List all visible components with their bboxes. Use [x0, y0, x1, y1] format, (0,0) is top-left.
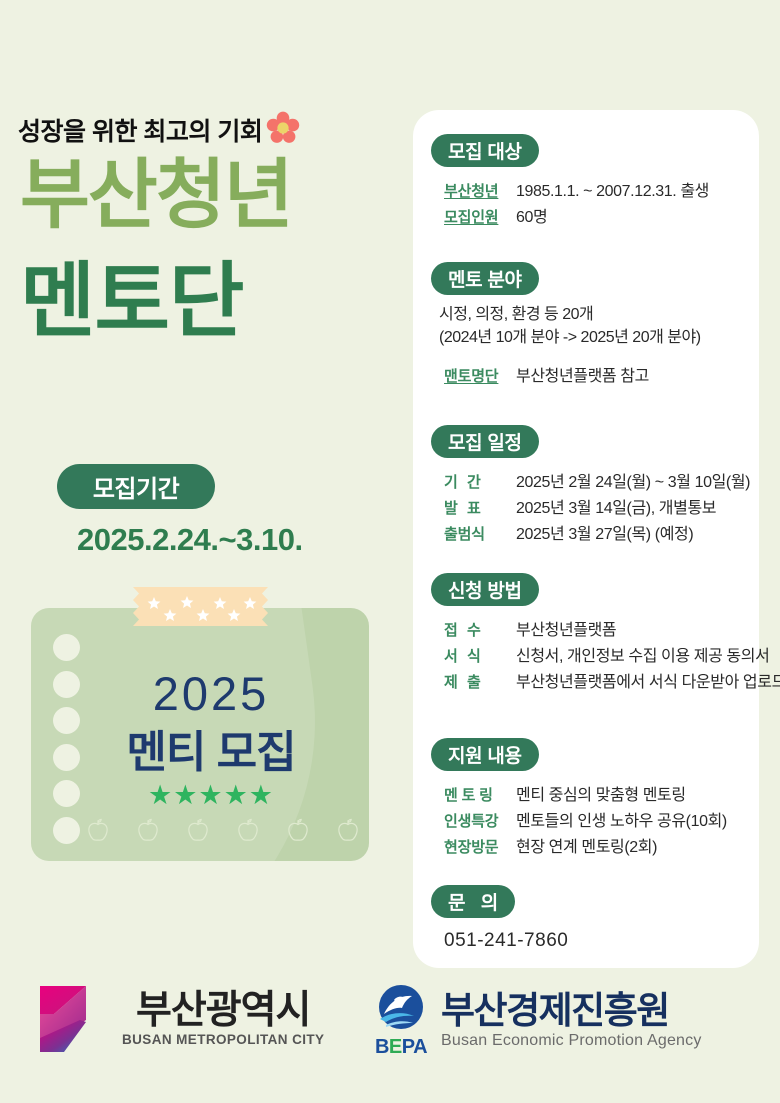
apple-icon: [237, 818, 259, 842]
row-value: 60명: [516, 203, 547, 227]
bepa-mark: BEPA: [372, 983, 430, 1059]
bepa-logo: BEPA 부산경제진흥원 Busan Economic Promotion Ag…: [372, 983, 702, 1059]
contact-phone: 051-241-7860: [431, 930, 751, 952]
busan-city-logo-text: 부산광역시 BUSAN METROPOLITAN CITY: [122, 991, 324, 1048]
info-row: 모집인원 60명: [444, 203, 751, 227]
row-value: 멘티 중심의 맞춤형 멘토링: [516, 781, 686, 805]
bepa-name-kr: 부산경제진흥원: [441, 992, 702, 1031]
row-value: 2025년 3월 27일(목) (예정): [516, 520, 693, 544]
info-row: 기 간 2025년 2월 24일(월) ~ 3월 10일(월): [444, 468, 751, 492]
row-label: 모집인원: [444, 206, 516, 227]
row-value: 현장 연계 멘토링(2회): [516, 833, 657, 857]
row-label: 제 출: [444, 671, 516, 692]
section-pill-apply-method: 신청 방법: [431, 573, 539, 606]
section-pill-support: 지원 내용: [431, 738, 539, 771]
info-row: 서 식 신청서, 개인정보 수집 이용 제공 동의서: [444, 642, 751, 666]
info-row: 인생특강 멘토들의 인생 노하우 공유(10회): [444, 807, 751, 831]
section-apply-method: 신청 방법 접 수 부산청년플랫폼 서 식 신청서, 개인정보 수집 이용 제공…: [431, 573, 751, 694]
apple-icon: [137, 818, 159, 842]
bepa-logo-text: 부산경제진흥원 Busan Economic Promotion Agency: [441, 992, 702, 1051]
punch-hole: [53, 634, 80, 661]
row-label: 맨토명단: [444, 365, 516, 386]
rows-recruit-target: 부산청년 1985.1.1. ~ 2007.12.31. 출생 모집인원 60명: [431, 177, 751, 227]
busan-city-name-kr: 부산광역시: [136, 991, 310, 1032]
section-pill-mentor-field: 멘토 분야: [431, 262, 539, 295]
apple-row: [87, 818, 359, 842]
row-label: 출범식: [444, 523, 516, 544]
info-row: 멘 토 링 멘티 중심의 맞춤형 멘토링: [444, 781, 751, 805]
info-row: 제 출 부산청년플랫폼에서 서식 다운받아 업로드: [444, 668, 751, 692]
section-mentor-field: 멘토 분야 시정, 의정, 환경 등 20개 (2024년 10개 분야 -> …: [431, 262, 751, 388]
title-line-2: 멘토단: [20, 263, 243, 342]
section-pill-contact: 문 의: [431, 885, 515, 918]
row-value: 신청서, 개인정보 수집 이용 제공 동의서: [516, 642, 769, 666]
info-panel: 모집 대상 부산청년 1985.1.1. ~ 2007.12.31. 출생 모집…: [413, 110, 759, 968]
busan-city-logo: 부산광역시 BUSAN METROPOLITAN CITY: [34, 980, 324, 1058]
star-rating: ★★★★★: [31, 780, 369, 811]
bepa-wordmark: BEPA: [375, 1036, 427, 1059]
section-pill-recruit-target: 모집 대상: [431, 134, 539, 167]
left-column: 성장을 위한 최고의 기회 부산청년 멘토단 모집기간 2025.2.24.~3…: [0, 0, 412, 1103]
tagline-row: 성장을 위한 최고의 기회: [18, 112, 300, 148]
row-label: 발 표: [444, 497, 516, 518]
title-line-1: 부산청년: [20, 160, 292, 233]
busan-city-logo-icon: [34, 980, 112, 1058]
row-value: 부산청년플랫폼 참고: [516, 362, 649, 386]
apple-icon: [337, 818, 359, 842]
info-row: 현장방문 현장 연계 멘토링(2회): [444, 833, 751, 857]
punch-hole: [53, 817, 80, 844]
row-value: 멘토들의 인생 노하우 공유(10회): [516, 807, 727, 831]
rows-mentor-field: 맨토명단 부산청년플랫폼 참고: [431, 362, 751, 386]
row-value: 부산청년플랫폼: [516, 616, 616, 640]
washi-tape-icon: [128, 587, 273, 626]
row-value: 2025년 3월 14일(금), 개별통보: [516, 494, 716, 518]
row-label: 현장방문: [444, 836, 516, 857]
mentor-field-text-1: 시정, 의정, 환경 등 20개: [431, 304, 751, 326]
row-label: 부산청년: [444, 180, 516, 201]
bepa-logo-icon: [372, 983, 430, 1035]
rows-schedule: 기 간 2025년 2월 24일(월) ~ 3월 10일(월) 발 표 2025…: [431, 468, 751, 544]
rows-apply-method: 접 수 부산청년플랫폼 서 식 신청서, 개인정보 수집 이용 제공 동의서 제…: [431, 616, 751, 692]
info-row: 부산청년 1985.1.1. ~ 2007.12.31. 출생: [444, 177, 751, 201]
bepa-name-en: Busan Economic Promotion Agency: [441, 1032, 702, 1050]
mentor-field-text-2: (2024년 10개 분야 -> 2025년 20개 분야): [431, 327, 751, 349]
flower-icon: [266, 111, 300, 145]
note-card: 2025 멘티 모집 ★★★★★: [31, 608, 369, 861]
row-label: 기 간: [444, 471, 516, 492]
row-value: 부산청년플랫폼에서 서식 다운받아 업로드: [516, 668, 780, 692]
info-row: 출범식 2025년 3월 27일(목) (예정): [444, 520, 751, 544]
footer-logos: 부산광역시 BUSAN METROPOLITAN CITY BEPA 부산경제진…: [0, 975, 780, 1090]
busan-city-name-en: BUSAN METROPOLITAN CITY: [122, 1032, 324, 1047]
tagline: 성장을 위한 최고의 기회: [18, 112, 262, 148]
section-recruit-target: 모집 대상 부산청년 1985.1.1. ~ 2007.12.31. 출생 모집…: [431, 134, 751, 229]
info-row: 맨토명단 부산청년플랫폼 참고: [444, 362, 751, 386]
recruit-period-dates: 2025.2.24.~3.10.: [77, 522, 303, 558]
row-label: 멘 토 링: [444, 784, 516, 805]
row-value: 1985.1.1. ~ 2007.12.31. 출생: [516, 177, 709, 201]
rows-support: 멘 토 링 멘티 중심의 맞춤형 멘토링 인생특강 멘토들의 인생 노하우 공유…: [431, 781, 751, 857]
row-label: 서 식: [444, 645, 516, 666]
note-card-headline: 멘티 모집: [31, 716, 369, 780]
row-value: 2025년 2월 24일(월) ~ 3월 10일(월): [516, 468, 750, 492]
row-label: 접 수: [444, 619, 516, 640]
recruit-period-pill: 모집기간: [57, 464, 215, 509]
info-row: 발 표 2025년 3월 14일(금), 개별통보: [444, 494, 751, 518]
note-card-year: 2025: [31, 666, 369, 721]
section-contact: 문 의 051-241-7860: [431, 885, 751, 952]
apple-icon: [187, 818, 209, 842]
section-support: 지원 내용 멘 토 링 멘티 중심의 맞춤형 멘토링 인생특강 멘토들의 인생 …: [431, 738, 751, 859]
row-label: 인생특강: [444, 810, 516, 831]
info-row: 접 수 부산청년플랫폼: [444, 616, 751, 640]
section-pill-schedule: 모집 일정: [431, 425, 539, 458]
apple-icon: [287, 818, 309, 842]
apple-icon: [87, 818, 109, 842]
poster-root: 성장을 위한 최고의 기회 부산청년 멘토단 모집기간 2025.2.24.~3…: [0, 0, 780, 1103]
section-schedule: 모집 일정 기 간 2025년 2월 24일(월) ~ 3월 10일(월) 발 …: [431, 425, 751, 546]
